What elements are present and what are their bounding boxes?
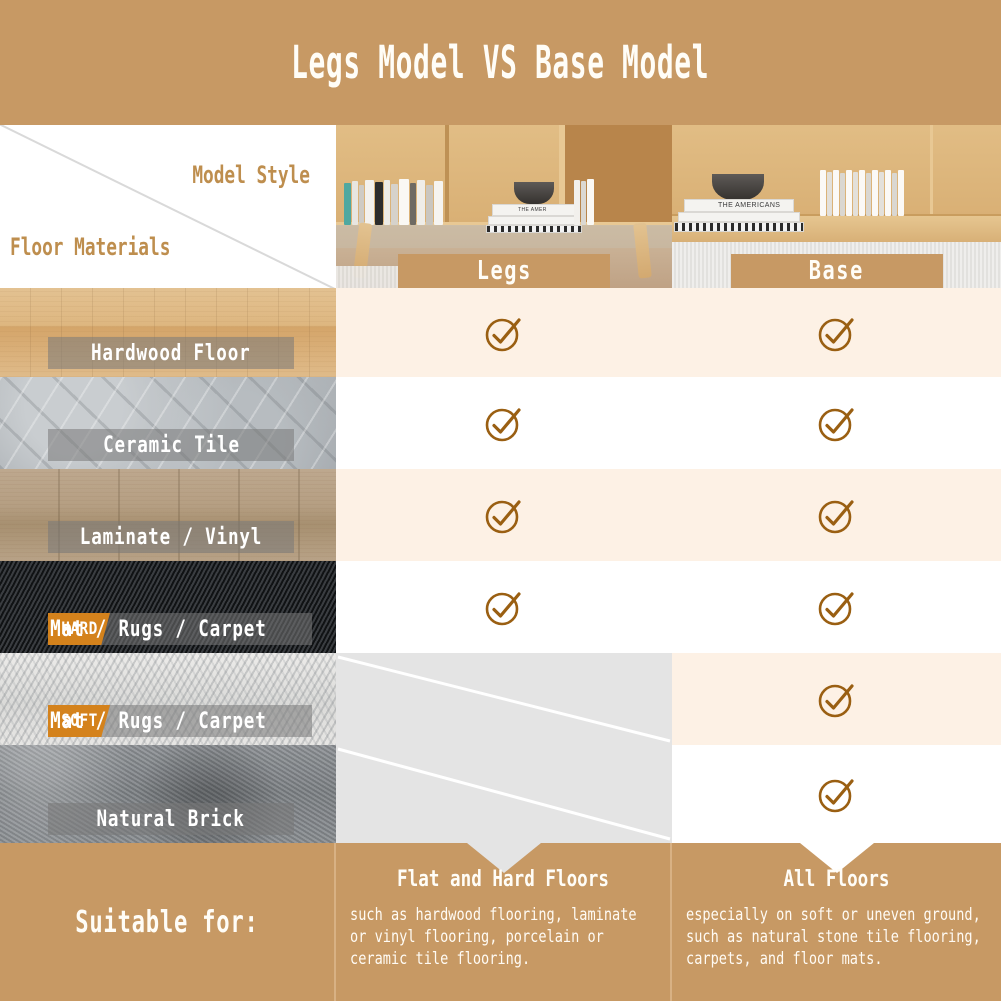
footer-base-cell: All Floors especially on soft or uneven … — [672, 843, 1001, 1001]
shelf-body-base-right — [930, 125, 1001, 219]
base-product-photo: THE AMERICANS Base — [672, 125, 1001, 288]
check-circle-icon — [481, 492, 527, 538]
legs-product-photo: THE AMER Legs — [336, 125, 672, 288]
legs-cell — [336, 469, 672, 561]
check-circle-icon — [481, 400, 527, 446]
footer-legs-cell: Flat and Hard Floors such as hardwood fl… — [336, 843, 672, 1001]
material-label-bar: HARDMat / Rugs / Carpet — [48, 613, 312, 645]
footer-base-heading: All Floors — [716, 867, 957, 892]
column-header-legs: Legs — [398, 254, 610, 288]
base-cell — [672, 377, 1001, 469]
footer-legs-heading: Flat and Hard Floors — [381, 867, 626, 892]
base-column: THE AMERICANS Base — [672, 125, 1001, 843]
book-stack-b3 — [674, 222, 804, 232]
check-circle-icon — [814, 310, 860, 356]
material-label-bar: Natural Brick — [48, 803, 294, 835]
model-style-label: Model Style — [192, 161, 310, 189]
diagonal-strike-icon — [336, 653, 672, 745]
material-row: Ceramic Tile — [0, 377, 336, 469]
suitable-for-label: Suitable for: — [75, 905, 258, 940]
legs-cell — [336, 745, 672, 843]
column-header-legs-label: Legs — [476, 256, 531, 286]
check-circle-icon — [481, 310, 527, 356]
base-cell — [672, 469, 1001, 561]
material-name: Ceramic Tile — [103, 433, 240, 458]
check-circle-icon — [814, 492, 860, 538]
material-row: Hardwood Floor — [0, 288, 336, 377]
materials-column: Model Style Floor Materials Hardwood Flo… — [0, 125, 336, 843]
book-stack-3 — [486, 225, 582, 233]
title-bar: Legs Model VS Base Model — [0, 0, 1001, 125]
base-cell — [672, 653, 1001, 745]
check-circle-icon — [814, 771, 860, 817]
diagonal-strike-icon — [336, 745, 672, 843]
check-circle-icon — [814, 584, 860, 630]
material-name: Mat / Rugs / Carpet — [50, 709, 267, 734]
comparison-table: Model Style Floor Materials Hardwood Flo… — [0, 125, 1001, 843]
legs-cell — [336, 377, 672, 469]
suitable-for-footer: Suitable for: Flat and Hard Floors such … — [0, 843, 1001, 1001]
base-cell — [672, 745, 1001, 843]
material-name: Laminate / Vinyl — [80, 525, 262, 550]
material-row: HARDMat / Rugs / Carpet — [0, 561, 336, 653]
footer-legs-body: such as hardwood flooring, laminate or v… — [350, 904, 656, 970]
comparison-infographic: Legs Model VS Base Model Model Style Flo… — [0, 0, 1001, 1001]
book-stack-2 — [488, 216, 580, 225]
material-row: Natural Brick — [0, 745, 336, 843]
material-row: Laminate / Vinyl — [0, 469, 336, 561]
material-label-bar: SOFTMat / Rugs / Carpet — [48, 705, 312, 737]
corner-header-cell: Model Style Floor Materials — [0, 125, 336, 288]
legs-cell — [336, 561, 672, 653]
legs-column: THE AMER Legs — [336, 125, 674, 843]
material-name: Natural Brick — [97, 807, 245, 832]
material-row: SOFTMat / Rugs / Carpet — [0, 653, 336, 745]
check-circle-icon — [814, 400, 860, 446]
floor-materials-label: Floor Materials — [10, 233, 170, 261]
book-stack-b2 — [678, 212, 800, 222]
legs-cell — [336, 653, 672, 745]
material-name: Mat / Rugs / Carpet — [50, 617, 267, 642]
material-label-bar: Ceramic Tile — [48, 429, 294, 461]
base-cell — [672, 561, 1001, 653]
page-title: Legs Model VS Base Model — [291, 36, 709, 89]
material-label-bar: Laminate / Vinyl — [48, 521, 294, 553]
shelf-divider — [445, 125, 449, 222]
column-header-base-label: Base — [809, 256, 864, 286]
suitable-for-label-cell: Suitable for: — [0, 843, 336, 1001]
base-cell — [672, 288, 1001, 377]
legs-cell — [336, 288, 672, 377]
material-name: Hardwood Floor — [91, 341, 251, 366]
check-circle-icon — [814, 676, 860, 722]
column-header-base: Base — [731, 254, 943, 288]
footer-base-body: especially on soft or uneven ground, suc… — [686, 904, 987, 970]
material-label-bar: Hardwood Floor — [48, 337, 294, 369]
corner-diagonal-line — [0, 125, 336, 288]
check-circle-icon — [481, 584, 527, 630]
